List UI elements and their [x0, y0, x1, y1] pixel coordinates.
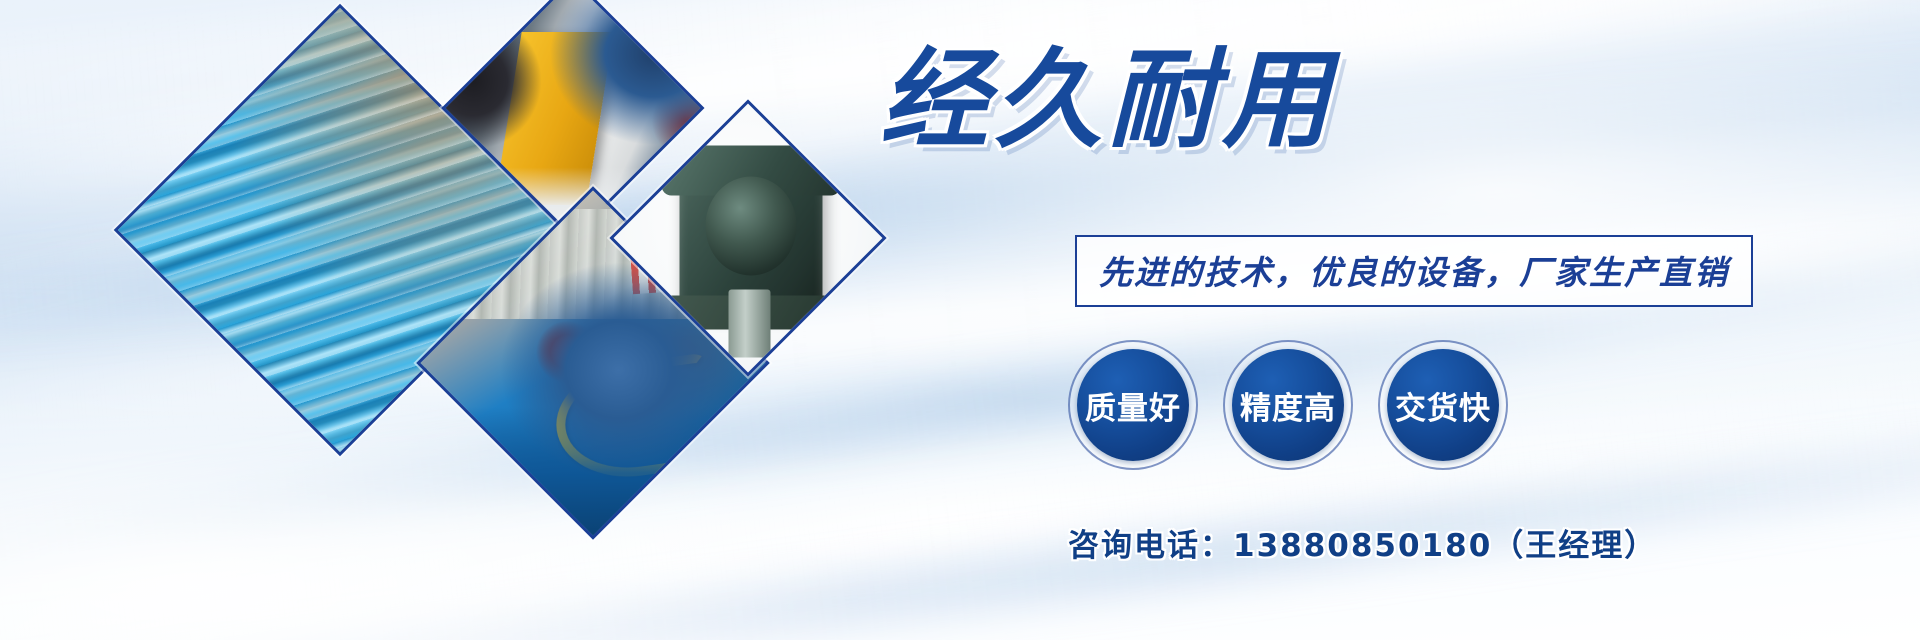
feature-badge-list: 质量好 精度高 交货快 — [1068, 340, 1508, 470]
feature-badge-delivery[interactable]: 交货快 — [1378, 340, 1508, 470]
promo-banner: 经久耐用 先进的技术，优良的设备，厂家生产直销 质量好 精度高 交货快 咨询电话… — [0, 0, 1920, 640]
subtitle-box: 先进的技术，优良的设备，厂家生产直销 — [1075, 235, 1753, 307]
photo-detail-yellow-hose — [549, 353, 720, 487]
contact-phone-line[interactable]: 咨询电话：13880850180（王经理） — [1068, 520, 1657, 565]
badge-disc: 交货快 — [1387, 349, 1499, 461]
subtitle-text: 先进的技术，优良的设备，厂家生产直销 — [1099, 253, 1729, 292]
badge-disc: 质量好 — [1077, 349, 1189, 461]
feature-badge-precision[interactable]: 精度高 — [1223, 340, 1353, 470]
badge-label: 质量好 — [1085, 383, 1181, 428]
page-title: 经久耐用 — [880, 46, 1336, 156]
badge-label: 精度高 — [1240, 383, 1336, 428]
feature-badge-quality[interactable]: 质量好 — [1068, 340, 1198, 470]
badge-label: 交货快 — [1395, 383, 1491, 428]
diamond-photo-collage — [150, 20, 850, 620]
photo-detail-pump-shaft — [728, 289, 771, 357]
badge-disc: 精度高 — [1232, 349, 1344, 461]
